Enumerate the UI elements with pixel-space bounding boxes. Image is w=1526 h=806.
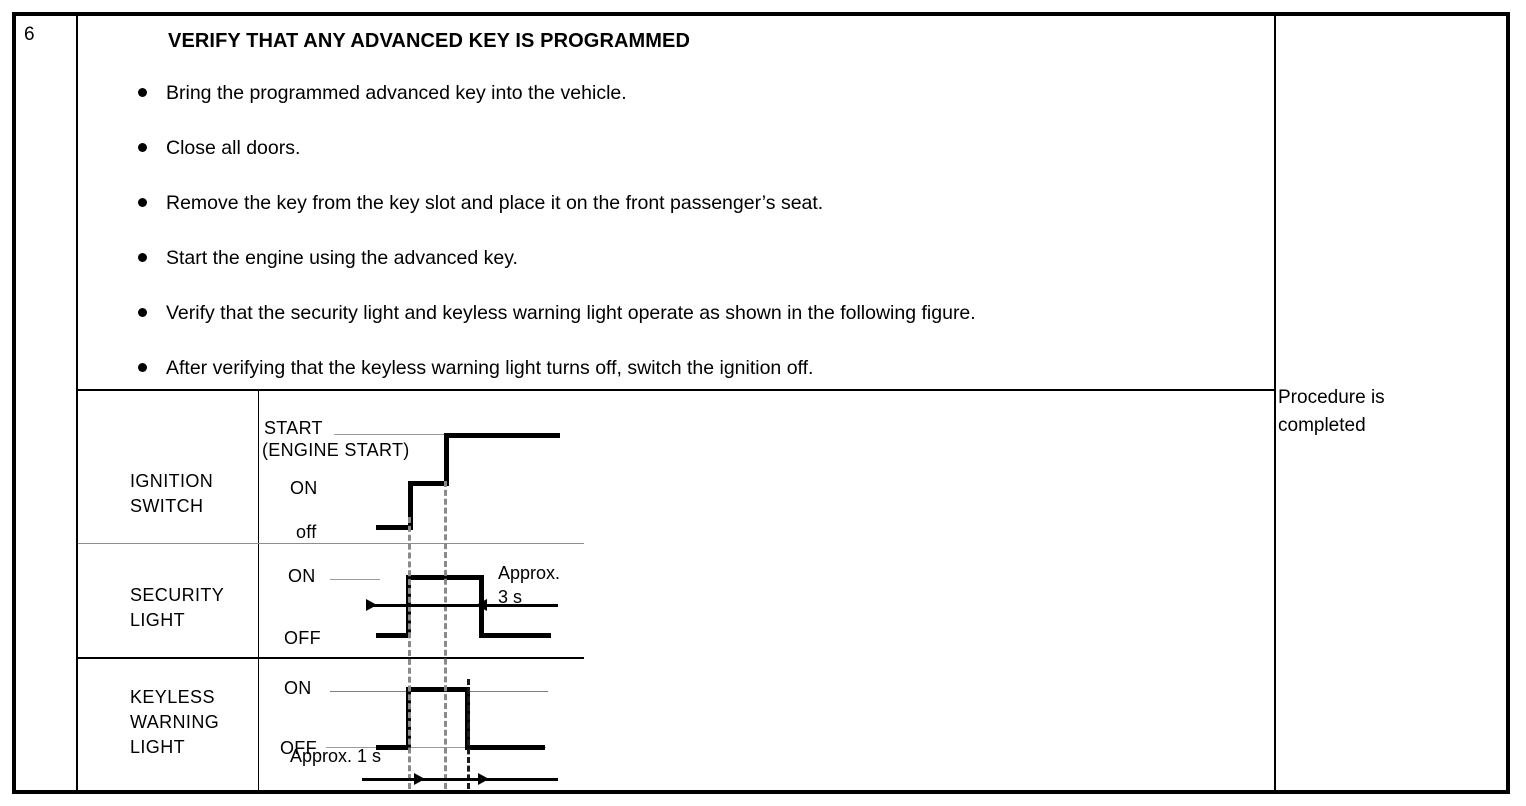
state-label-on: ON [290,477,318,499]
dimension-arrow-security-left [366,599,377,611]
waveform-ignition-rise-to-start [444,433,449,486]
dimension-arrow-keyless-right [478,773,489,785]
row-label-security-light: SECURITY LIGHT [130,583,224,633]
row-label-keyless-warning-light: KEYLESS WARNING LIGHT [130,685,219,760]
guide-line-security-on [330,579,380,580]
time-marker-ignition-on [408,517,411,789]
list-item: Verify that the security light and keyle… [136,302,1266,357]
waveform-keyless-off-pre [376,745,410,750]
list-item: Start the engine using the advanced key. [136,247,1266,302]
dimension-line-keyless [362,778,558,781]
bullet-icon [138,253,147,262]
state-label-keyless-on: ON [284,677,312,699]
annotation-keyless-duration: Approx. 1 s [290,745,381,767]
instruction-text: Verify that the security light and keyle… [166,302,976,324]
state-label-security-off: OFF [284,627,321,649]
bullet-icon [138,143,147,152]
waveform-security-off-pre [376,633,410,638]
diagram-row-separator [78,543,584,544]
waveform-ignition-start-segment [444,433,560,438]
row-label-ignition-switch: IGNITION SWITCH [130,469,213,519]
dimension-arrow-keyless-left [414,773,425,785]
time-marker-keyless-off [467,679,470,789]
waveform-ignition-off-segment [376,525,412,530]
state-label-start: START [264,417,323,439]
list-item: Close all doors. [136,137,1266,192]
waveform-security-off-post [479,633,551,638]
result-text: Procedure is completed [1278,384,1498,440]
waveform-keyless-on-segment [406,687,470,692]
diagram-row-separator [78,657,584,659]
result-line-2: completed [1278,412,1498,440]
bullet-icon [138,363,147,372]
state-label-security-on: ON [288,565,316,587]
instruction-text: Remove the key from the key slot and pla… [166,192,823,214]
annotation-security-duration: Approx. 3 s [498,561,560,609]
procedure-table: 6 VERIFY THAT ANY ADVANCED KEY IS PROGRA… [12,12,1510,794]
bullet-icon [138,88,147,97]
time-marker-engine-start [444,481,447,789]
state-label-engine-start: (ENGINE START) [262,439,410,461]
procedure-main-cell: VERIFY THAT ANY ADVANCED KEY IS PROGRAMM… [78,16,1274,790]
state-label-off: off [296,521,317,543]
waveform-keyless-off-post [465,745,545,750]
result-line-1: Procedure is [1278,384,1498,412]
list-item: Bring the programmed advanced key into t… [136,82,1266,137]
list-item: Remove the key from the key slot and pla… [136,192,1266,247]
step-number: 6 [24,24,72,46]
instruction-text: Start the engine using the advanced key. [166,247,518,269]
instruction-text: Close all doors. [166,137,300,159]
diagram-label-divider [258,391,259,791]
instruction-list: Bring the programmed advanced key into t… [136,82,1266,412]
timing-diagram: IGNITION SWITCH START (ENGINE START) ON … [78,389,1274,794]
instruction-text: After verifying that the keyless warning… [166,357,813,379]
dimension-arrow-security-right [476,599,487,611]
bullet-icon [138,308,147,317]
waveform-ignition-on-segment [408,481,448,486]
instruction-text: Bring the programmed advanced key into t… [166,82,627,104]
column-divider-result [1274,16,1276,790]
page-title: VERIFY THAT ANY ADVANCED KEY IS PROGRAMM… [168,30,690,53]
bullet-icon [138,198,147,207]
